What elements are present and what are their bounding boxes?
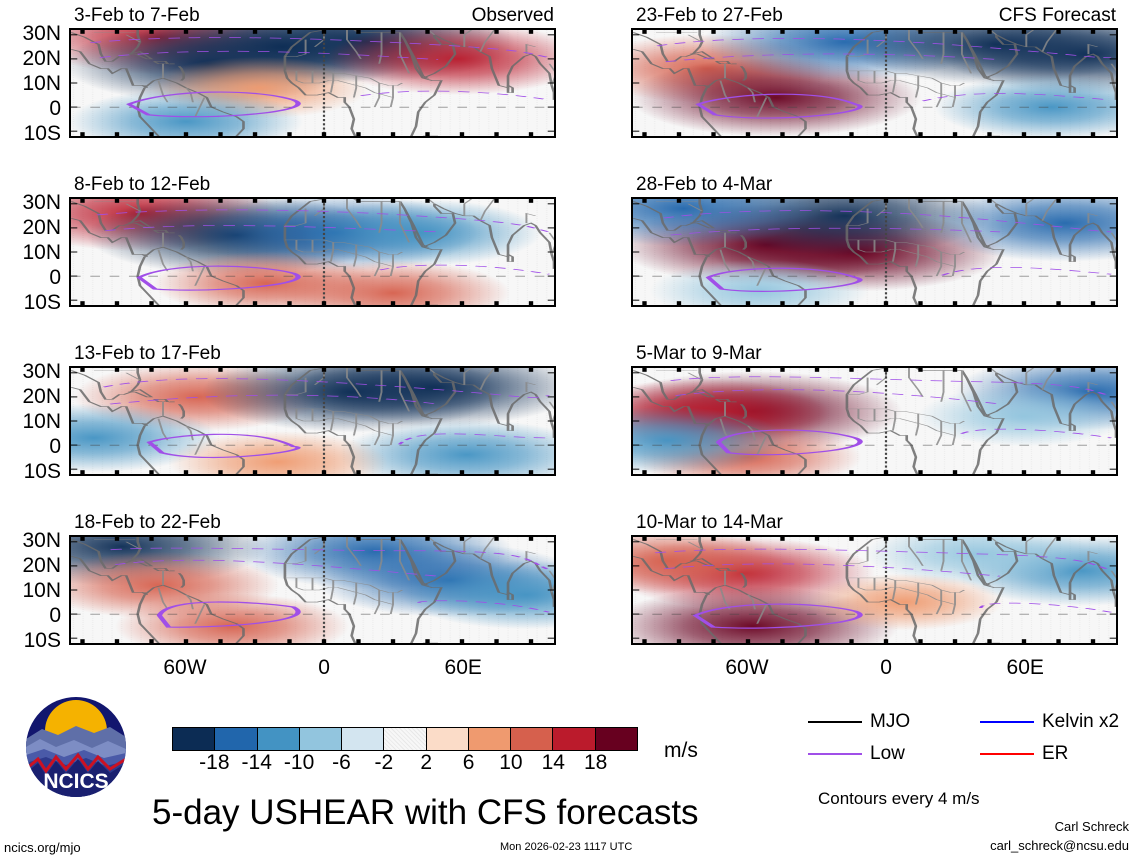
footer-email[interactable]: carl_schreck@ncsu.edu (990, 839, 1129, 852)
legend-line-swatch (808, 721, 862, 723)
panel-title-fcs-2: 28-Feb to 4-Mar (636, 175, 772, 194)
y-axis-tick-label: 0 (0, 98, 61, 119)
map-panel-obs-4[interactable] (69, 535, 556, 645)
colorbar-swatch (384, 728, 426, 750)
x-axis-tick-label: 60E (980, 657, 1070, 678)
y-axis-tick-label: 20N (0, 386, 61, 407)
colorbar-swatch (553, 728, 595, 750)
y-axis-tick-label: 20N (0, 555, 61, 576)
y-axis-tick-label: 0 (0, 267, 61, 288)
panel-title-fcs-4: 10-Mar to 14-Mar (636, 513, 783, 532)
colorbar-ticks: -18-14-10-6-226101418 (172, 752, 638, 776)
x-axis-tick-label: 60W (140, 657, 230, 678)
panel-title-obs-1: 3-Feb to 7-Feb (74, 6, 200, 25)
legend-item-kelvin-x2: Kelvin x2 (980, 712, 1119, 731)
contour-legend: MJOKelvin x2LowER (808, 712, 1128, 774)
y-axis-tick-label: 30N (0, 192, 61, 213)
y-axis-tick-label: 10N (0, 411, 61, 432)
panel-title-fcs-1: 23-Feb to 27-Feb (636, 6, 783, 25)
colorbar-tick-label: -10 (284, 752, 314, 773)
colorbar-tick-label: -6 (332, 752, 351, 773)
footer-url[interactable]: ncics.org/mjo (4, 841, 81, 854)
colorbar-tick-label: -2 (374, 752, 393, 773)
colorbar (172, 727, 638, 751)
panel-title-obs-3: 13-Feb to 17-Feb (74, 344, 221, 363)
legend-label: Low (870, 744, 905, 763)
map-panel-fcs-4[interactable] (631, 535, 1118, 645)
colorbar-swatch (258, 728, 300, 750)
colorbar-tick-label: -18 (199, 752, 229, 773)
map-panel-obs-3[interactable] (69, 366, 556, 476)
colorbar-swatch (300, 728, 342, 750)
x-axis-tick-label: 60W (702, 657, 792, 678)
panel-corner-label-fcs-1: CFS Forecast (976, 6, 1116, 25)
legend-item-low: Low (808, 744, 905, 763)
logo-text: NCICS (43, 770, 108, 793)
y-axis-tick-label: 10S (0, 461, 61, 482)
colorbar-swatch (427, 728, 469, 750)
colorbar-swatch (469, 728, 511, 750)
map-panel-fcs-3[interactable] (631, 366, 1118, 476)
footer-author: Carl Schreck (1055, 820, 1129, 833)
y-axis-tick-label: 30N (0, 361, 61, 382)
y-axis-tick-label: 0 (0, 605, 61, 626)
ncics-logo: NCICS (24, 695, 128, 799)
legend-line-swatch (808, 753, 862, 755)
legend-label: Kelvin x2 (1042, 712, 1119, 731)
map-panel-obs-1[interactable] (69, 28, 556, 138)
x-axis-tick-label: 60E (418, 657, 508, 678)
y-axis-tick-label: 30N (0, 23, 61, 44)
panel-title-fcs-3: 5-Mar to 9-Mar (636, 344, 762, 363)
y-axis-tick-label: 10N (0, 580, 61, 601)
colorbar-swatch (173, 728, 215, 750)
page-title: 5-day USHEAR with CFS forecasts (152, 795, 699, 830)
colorbar-tick-label: 10 (499, 752, 522, 773)
colorbar-swatch (342, 728, 384, 750)
panel-corner-label-obs-1: Observed (414, 6, 554, 25)
map-panel-obs-2[interactable] (69, 197, 556, 307)
legend-label: MJO (870, 712, 910, 731)
colorbar-tick-label: -14 (242, 752, 272, 773)
colorbar-tick-label: 2 (420, 752, 432, 773)
y-axis-tick-label: 10S (0, 123, 61, 144)
colorbar-swatch (596, 728, 637, 750)
legend-item-mjo: MJO (808, 712, 910, 731)
colorbar-tick-label: 14 (542, 752, 565, 773)
y-axis-tick-label: 10S (0, 630, 61, 651)
colorbar-swatch (215, 728, 257, 750)
y-axis-tick-label: 10N (0, 73, 61, 94)
figure-root: 3-Feb to 7-FebObserved30N20N10N010S8-Feb… (0, 0, 1135, 860)
map-panel-fcs-2[interactable] (631, 197, 1118, 307)
y-axis-tick-label: 0 (0, 436, 61, 457)
legend-label: ER (1042, 744, 1068, 763)
x-axis-tick-label: 0 (841, 657, 931, 678)
colorbar-tick-label: 18 (584, 752, 607, 773)
legend-line-swatch (980, 753, 1034, 755)
legend-item-er: ER (980, 744, 1068, 763)
footer-timestamp: Mon 2026-02-23 1117 UTC (500, 842, 632, 853)
colorbar-swatch (511, 728, 553, 750)
y-axis-tick-label: 20N (0, 48, 61, 69)
y-axis-tick-label: 20N (0, 217, 61, 238)
y-axis-tick-label: 10S (0, 292, 61, 313)
colorbar-units-label: m/s (664, 740, 698, 761)
contour-interval-note: Contours every 4 m/s (818, 790, 980, 807)
panel-title-obs-4: 18-Feb to 22-Feb (74, 513, 221, 532)
map-panel-fcs-1[interactable] (631, 28, 1118, 138)
colorbar-tick-label: 6 (463, 752, 475, 773)
y-axis-tick-label: 10N (0, 242, 61, 263)
y-axis-tick-label: 30N (0, 530, 61, 551)
panel-title-obs-2: 8-Feb to 12-Feb (74, 175, 210, 194)
legend-line-swatch (980, 721, 1034, 723)
x-axis-tick-label: 0 (279, 657, 369, 678)
